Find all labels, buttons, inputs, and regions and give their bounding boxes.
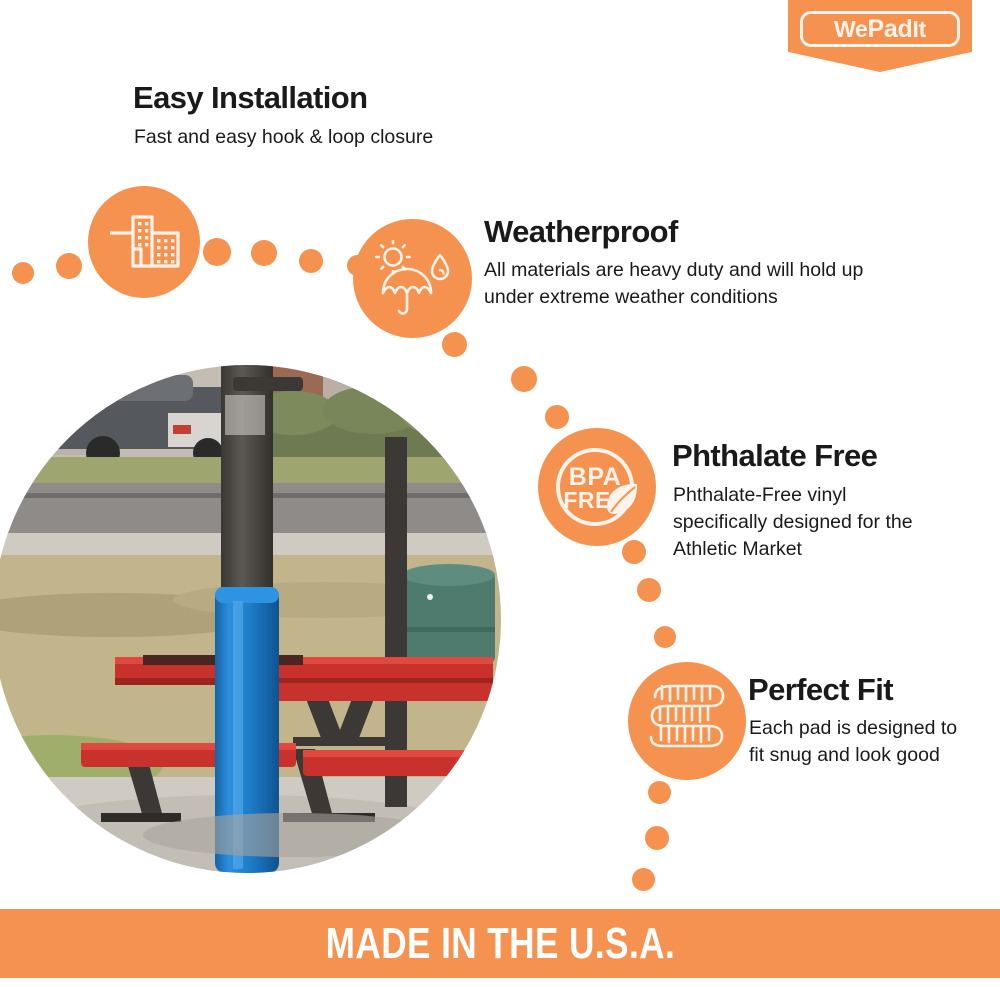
feature-description-easy-installation: Fast and easy hook & loop closure	[134, 124, 554, 151]
trail-dot	[56, 253, 82, 279]
logo-text-pad: Pad	[868, 15, 913, 44]
trail-dot	[203, 238, 231, 266]
trail-dot	[545, 405, 569, 429]
trail-dot	[645, 826, 669, 850]
feature-description-perfect-fit: Each pad is designed to fit snug and loo…	[749, 715, 977, 769]
trail-dot	[654, 626, 676, 648]
made-in-usa-banner: MADE IN THE U.S.A.	[0, 909, 1000, 978]
building-icon	[88, 186, 200, 298]
brand-logo-banner: WePadIt	[788, 0, 972, 72]
trail-dot	[347, 255, 368, 276]
trail-dot	[637, 578, 661, 602]
logo-text-we: We	[834, 16, 868, 43]
umbrella-sun-rain-icon	[353, 219, 472, 338]
trail-dot	[622, 540, 646, 564]
feature-description-phthalate-free: Phthalate-Free vinyl specifically design…	[673, 482, 935, 563]
infographic-canvas: WePadIt Easy Installation Fast and easy …	[0, 0, 1000, 987]
logo-wordmark: WePadIt	[803, 14, 957, 44]
feature-title-weatherproof: Weatherproof	[484, 214, 678, 250]
made-in-usa-text: MADE IN THE U.S.A.	[325, 919, 674, 969]
bpa-free-leaf-icon: BPA FREE	[538, 428, 656, 546]
trail-dot	[442, 332, 467, 357]
logo-plate-border: WePadIt	[800, 11, 960, 47]
measuring-tape-icon	[628, 662, 746, 780]
feature-description-weatherproof: All materials are heavy duty and will ho…	[484, 257, 904, 311]
feature-title-phthalate-free: Phthalate Free	[672, 438, 877, 474]
trail-dot	[648, 781, 671, 804]
trail-dot	[12, 262, 34, 284]
trail-dot	[632, 868, 655, 891]
feature-title-perfect-fit: Perfect Fit	[748, 672, 893, 708]
trail-dot	[251, 240, 277, 266]
feature-title-easy-installation: Easy Installation	[133, 80, 367, 116]
logo-text-it: It	[913, 16, 926, 43]
product-photo	[0, 365, 501, 873]
trail-dot	[299, 249, 323, 273]
trail-dot	[511, 366, 537, 392]
